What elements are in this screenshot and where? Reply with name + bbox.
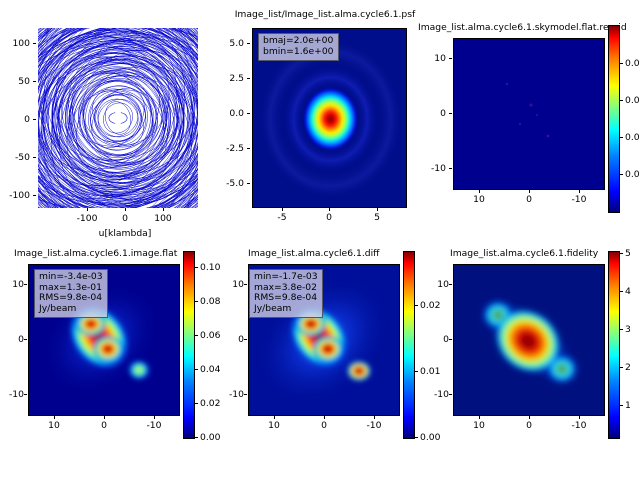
skymodel-cbar-tick-006: 0.06: [625, 95, 640, 106]
image-flat-ytick-neg10: -10: [0, 389, 24, 400]
skymodel-cbar-tick-002: 0.02: [625, 169, 640, 180]
image-flat-cbar-tick-000: 0.00: [200, 432, 220, 443]
psf-title: Image_list/Image_list.alma.cycle6.1.psf: [230, 9, 420, 20]
uv-ytick-mark-neg50: [33, 157, 36, 158]
skymodel-xtick-10: 10: [454, 194, 504, 205]
skymodel-cbar-tick-mark-006: [620, 100, 623, 101]
diff-cbar-tick-mark-001: [415, 371, 418, 372]
fidelity-image: [454, 265, 605, 416]
image-flat-xtick-neg10: -10: [129, 420, 179, 431]
fidelity-xtick-0: 0: [504, 420, 554, 431]
uv-xtick-mark-neg100: [87, 208, 88, 211]
image-flat-ytick-mark-neg10: [24, 394, 27, 395]
diff-xtick-mark-0: [324, 416, 325, 419]
diff-ytick-10: 10: [216, 279, 244, 290]
diff-ytick-mark-neg10: [244, 394, 247, 395]
diff-cbar-tick-002: 0.02: [420, 300, 440, 311]
psf-ytick-neg5: -5.0: [214, 178, 244, 189]
psf-ytick-mark-neg5: [247, 183, 250, 184]
fidelity-ytick-neg10: -10: [421, 389, 449, 400]
fidelity-ytick-mark-neg10: [449, 394, 452, 395]
diff-cbar-tick-mark-002: [415, 305, 418, 306]
skymodel-cbar-tick-004: 0.04: [625, 132, 640, 143]
image-flat-ytick-mark-0: [24, 339, 27, 340]
uv-xaxis-label: u[klambda]: [63, 228, 187, 239]
skymodel-cbar-tick-mark-008: [620, 63, 623, 64]
skymodel-ytick-10: 10: [418, 53, 446, 64]
diff-xtick-neg10: -10: [349, 420, 399, 431]
image-flat-cbar-tick-004: 0.04: [200, 364, 220, 375]
diff-colorbar-gradient: [404, 252, 414, 438]
fidelity-title: Image_list.alma.cycle6.1.fidelity: [450, 248, 620, 259]
diff-stats-annotation: min=-1.7e-03 max=3.8e-02 RMS=9.8e-04 Jy/…: [249, 269, 323, 318]
fidelity-xtick-10: 10: [454, 420, 504, 431]
diff-cbar-tick-000: 0.00: [420, 432, 440, 443]
diff-xtick-10: 10: [249, 420, 299, 431]
uv-ytick-mark-0: [33, 119, 36, 120]
uv-xtick-100: 100: [138, 213, 188, 224]
fidelity-cbar-tick-1: 1: [625, 400, 631, 411]
diff-ytick-mark-10: [244, 284, 247, 285]
fidelity-cbar-tick-mark-4: [620, 291, 623, 292]
fidelity-xtick-mark-neg10: [579, 416, 580, 419]
image-flat-cbar-tick-mark-008: [195, 301, 198, 302]
diff-ytick-neg10: -10: [216, 389, 244, 400]
fidelity-ytick-10: 10: [421, 279, 449, 290]
fidelity-xtick-neg10: -10: [554, 420, 604, 431]
fidelity-xtick-mark-0: [529, 416, 530, 419]
psf-xtick-neg5: -5: [257, 212, 307, 223]
psf-ytick-0: 0.0: [214, 108, 244, 119]
uv-ytick-neg50: -50: [0, 152, 30, 163]
diff-title: Image_list.alma.cycle6.1.diff: [248, 248, 408, 259]
diff-xtick-0: 0: [299, 420, 349, 431]
image-flat-cbar-tick-mark-002: [195, 403, 198, 404]
skymodel-ytick-mark-0: [449, 113, 452, 114]
skymodel-cbar-tick-008: 0.08: [625, 58, 640, 69]
skymodel-xtick-mark-10: [479, 190, 480, 193]
skymodel-xtick-neg10: -10: [554, 194, 604, 205]
psf-ytick-mark-neg25: [247, 148, 250, 149]
uv-ytick-neg100: -100: [0, 190, 30, 201]
image-flat-xtick-0: 0: [79, 420, 129, 431]
skymodel-image: [454, 39, 605, 190]
uv-ytick-100: 100: [0, 38, 30, 49]
fidelity-colorbar: [608, 251, 620, 439]
image-flat-stats-annotation: min=-3.4e-03 max=1.3e-01 RMS=9.8e-04 Jy/…: [34, 269, 108, 318]
psf-ytick-mark-5: [247, 43, 250, 44]
fidelity-cbar-tick-2: 2: [625, 362, 631, 373]
psf-xtick-0: 0: [304, 212, 354, 223]
image-flat-ytick-mark-10: [24, 284, 27, 285]
uv-coverage-axes: [38, 28, 198, 208]
image-flat-cbar-tick-mark-010: [195, 267, 198, 268]
image-flat-xtick-mark-10: [54, 416, 55, 419]
skymodel-title: Image_list.alma.cycle6.1.skymodel.flat.r…: [418, 22, 640, 33]
psf-ytick-mark-25: [247, 78, 250, 79]
psf-xtick-mark-neg5: [282, 208, 283, 211]
uv-ytick-mark-50: [33, 81, 36, 82]
fidelity-cbar-tick-mark-2: [620, 367, 623, 368]
psf-ytick-neg25: -2.5: [214, 143, 244, 154]
matplotlib-figure: 100 50 0 -50 -100 -100 0 100 u[klambda] …: [0, 0, 640, 480]
diff-colorbar: [403, 251, 415, 439]
skymodel-ytick-mark-10: [449, 58, 452, 59]
fidelity-cbar-tick-mark-5: [620, 253, 623, 254]
skymodel-cbar-tick-mark-004: [620, 137, 623, 138]
psf-ytick-5: 5.0: [214, 38, 244, 49]
image-flat-cbar-tick-mark-004: [195, 369, 198, 370]
fidelity-cbar-tick-mark-1: [620, 405, 623, 406]
diff-cbar-tick-mark-000: [415, 437, 418, 438]
uv-ytick-mark-neg100: [33, 195, 36, 196]
fidelity-cbar-tick-mark-3: [620, 329, 623, 330]
image-flat-cbar-tick-mark-006: [195, 335, 198, 336]
skymodel-xtick-mark-0: [529, 190, 530, 193]
fidelity-axes: [453, 264, 605, 416]
fidelity-cbar-tick-3: 3: [625, 324, 631, 335]
fidelity-cbar-tick-4: 4: [625, 286, 631, 297]
psf-xtick-5: 5: [352, 212, 402, 223]
diff-xtick-mark-neg10: [374, 416, 375, 419]
skymodel-cbar-tick-mark-002: [620, 174, 623, 175]
skymodel-colorbar: [608, 25, 620, 213]
psf-xtick-mark-0: [329, 208, 330, 211]
image-flat-title: Image_list.alma.cycle6.1.image.flat: [14, 248, 194, 259]
psf-xtick-mark-5: [377, 208, 378, 211]
uv-xtick-mark-0: [125, 208, 126, 211]
fidelity-ytick-mark-0: [449, 339, 452, 340]
fidelity-ytick-0: 0: [421, 334, 449, 345]
psf-ytick-25: 2.5: [214, 73, 244, 84]
uv-ytick-0: 0: [0, 114, 30, 125]
fidelity-cbar-tick-5: 5: [625, 248, 631, 259]
fidelity-colorbar-gradient: [609, 252, 619, 438]
fidelity-xtick-mark-10: [479, 416, 480, 419]
psf-beam-annotation: bmaj=2.0e+00 bmin=1.6e+00: [258, 33, 339, 61]
uv-xtick-mark-100: [163, 208, 164, 211]
diff-cbar-tick-001: 0.01: [420, 366, 440, 377]
image-flat-colorbar-gradient: [184, 252, 194, 438]
image-flat-cbar-tick-008: 0.08: [200, 296, 220, 307]
skymodel-ytick-0: 0: [418, 108, 446, 119]
uv-ytick-50: 50: [0, 76, 30, 87]
uv-ytick-mark-100: [33, 43, 36, 44]
uv-coverage-plot: [38, 28, 198, 208]
skymodel-colorbar-gradient: [609, 26, 619, 212]
skymodel-ytick-mark-neg10: [449, 168, 452, 169]
psf-ytick-mark-0: [247, 113, 250, 114]
image-flat-cbar-tick-mark-000: [195, 437, 198, 438]
diff-ytick-mark-0: [244, 339, 247, 340]
image-flat-cbar-tick-010: 0.10: [200, 262, 220, 273]
image-flat-xtick-10: 10: [29, 420, 79, 431]
skymodel-xtick-mark-neg10: [579, 190, 580, 193]
image-flat-xtick-mark-0: [104, 416, 105, 419]
image-flat-xtick-mark-neg10: [154, 416, 155, 419]
fidelity-ytick-mark-10: [449, 284, 452, 285]
image-flat-colorbar: [183, 251, 195, 439]
skymodel-xtick-0: 0: [504, 194, 554, 205]
skymodel-ytick-neg10: -10: [418, 163, 446, 174]
skymodel-axes: [453, 38, 605, 190]
diff-xtick-mark-10: [274, 416, 275, 419]
image-flat-ytick-0: 0: [0, 334, 24, 345]
image-flat-ytick-10: 10: [0, 279, 24, 290]
diff-ytick-0: 0: [216, 334, 244, 345]
